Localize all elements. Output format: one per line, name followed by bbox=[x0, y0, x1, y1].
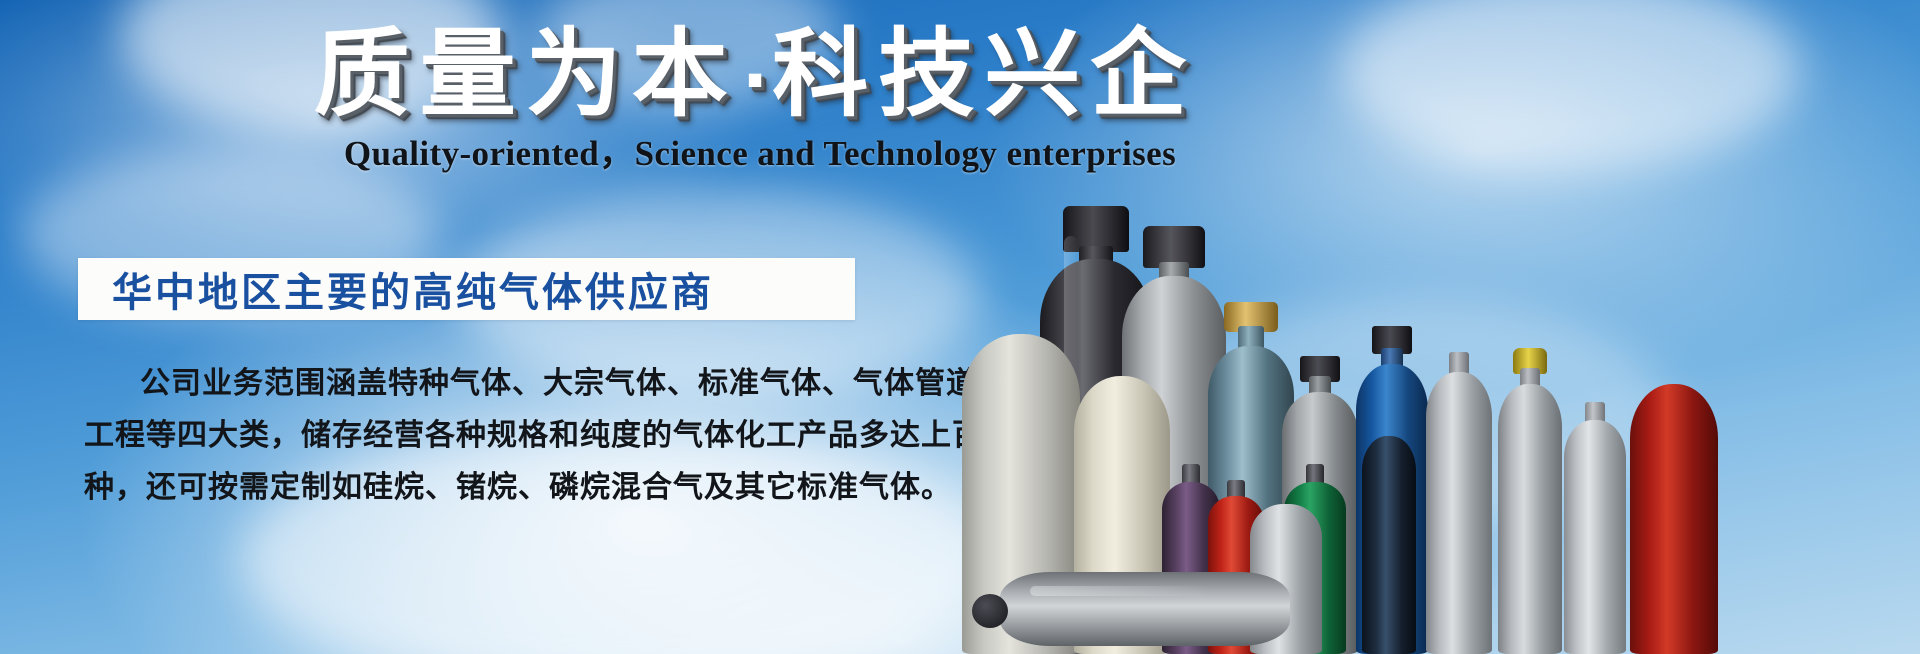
paragraph-line-2: 工程等四大类，储存经营各种规格和纯度的气体化工产品多达上百 bbox=[84, 410, 874, 462]
cylinder-body bbox=[1630, 384, 1718, 654]
promo-banner: 质量为本·科技兴企 Quality-oriented，Science and T… bbox=[0, 0, 1920, 654]
highlight-box-text: 华中地区主要的高纯气体供应商 bbox=[78, 260, 714, 318]
banner-paragraph: 公司业务范围涵盖特种气体、大宗气体、标准气体、气体管道 工程等四大类，储存经营各… bbox=[84, 358, 874, 514]
cylinder-body bbox=[1426, 372, 1492, 654]
cylinder-horizontal-gray bbox=[1000, 572, 1290, 646]
cylinder-aluminum bbox=[1426, 354, 1492, 654]
cylinder-highlight bbox=[1030, 586, 1210, 596]
cylinder-aluminum-yellow-cap bbox=[1498, 349, 1562, 654]
gas-cylinder-product-group bbox=[950, 0, 1920, 654]
paragraph-line-1: 公司业务范围涵盖特种气体、大宗气体、标准气体、气体管道 bbox=[84, 358, 874, 410]
cylinder-body bbox=[1362, 436, 1416, 654]
cylinder-body bbox=[1564, 420, 1626, 654]
cylinder-dark-navy bbox=[1362, 436, 1416, 654]
highlight-box: 华中地区主要的高纯气体供应商 bbox=[78, 258, 855, 320]
cylinder-body bbox=[1498, 384, 1562, 654]
paragraph-line-3: 种，还可按需定制如硅烷、锗烷、磷烷混合气及其它标准气体。 bbox=[84, 462, 874, 514]
cylinder-silver-short bbox=[1564, 404, 1626, 654]
headline-separator-dot: · bbox=[738, 40, 773, 122]
headline-left-text: 质量为本 bbox=[314, 18, 738, 130]
cylinder-horizontal-valve bbox=[972, 594, 1008, 628]
cylinder-red-wide bbox=[1630, 384, 1718, 654]
